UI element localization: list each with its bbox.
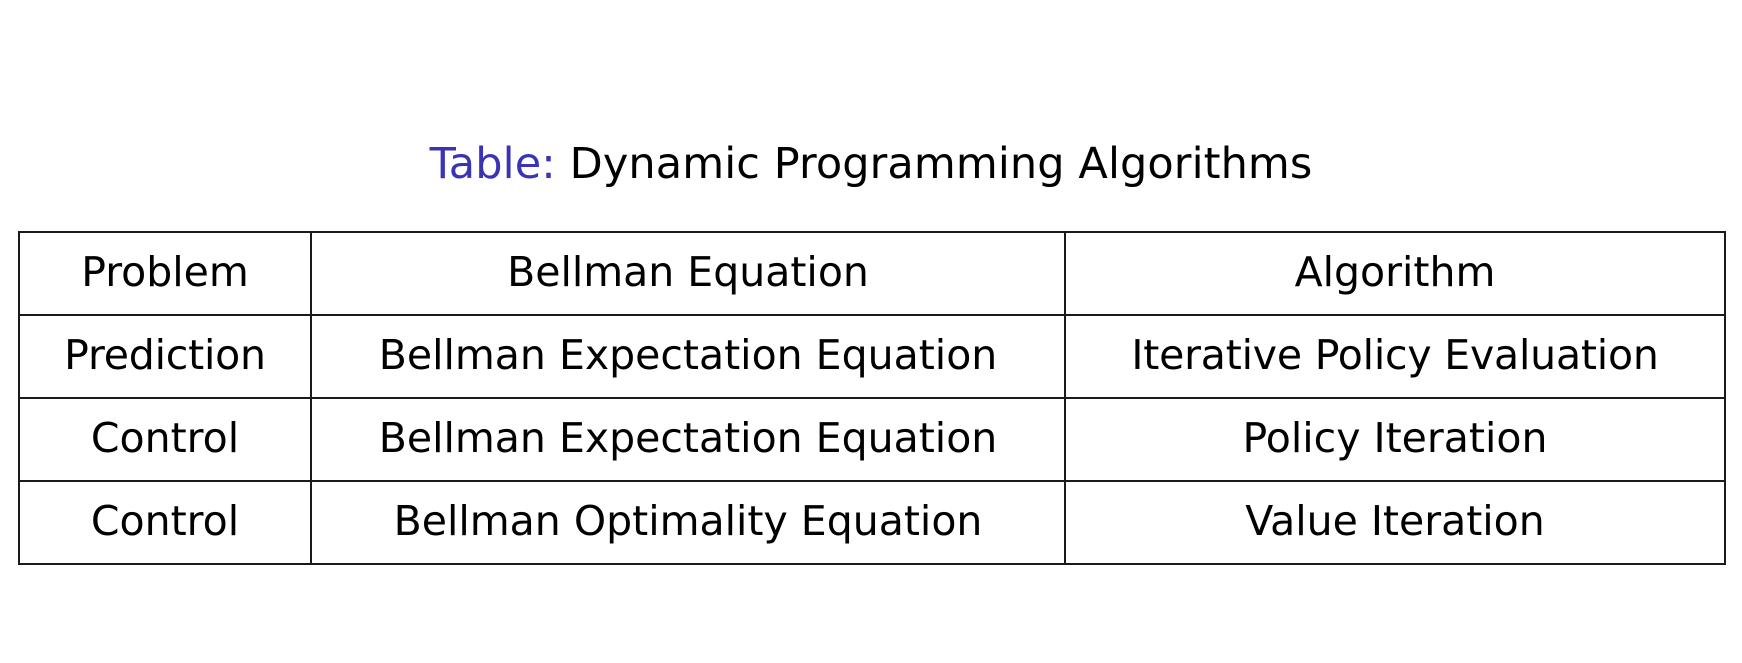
cell-bellman-equation: Bellman Optimality Equation [311,481,1065,564]
table-header-row: Problem Bellman Equation Algorithm [19,232,1725,315]
caption-title-text: Dynamic Programming Algorithms [570,139,1313,189]
cell-problem: Control [19,398,311,481]
caption-label: Table: [430,139,556,189]
table-body: Prediction Bellman Expectation Equation … [19,315,1725,564]
table-container: Problem Bellman Equation Algorithm Predi… [18,231,1724,565]
column-header-bellman-equation: Bellman Equation [311,232,1065,315]
cell-algorithm: Iterative Policy Evaluation [1065,315,1725,398]
table-row: Control Bellman Expectation Equation Pol… [19,398,1725,481]
column-header-problem: Problem [19,232,311,315]
cell-problem: Prediction [19,315,311,398]
table-caption: Table: Dynamic Programming Algorithms [0,143,1742,186]
dynamic-programming-table: Problem Bellman Equation Algorithm Predi… [18,231,1726,565]
cell-algorithm: Policy Iteration [1065,398,1725,481]
column-header-algorithm: Algorithm [1065,232,1725,315]
table-row: Prediction Bellman Expectation Equation … [19,315,1725,398]
cell-bellman-equation: Bellman Expectation Equation [311,398,1065,481]
table-row: Control Bellman Optimality Equation Valu… [19,481,1725,564]
cell-algorithm: Value Iteration [1065,481,1725,564]
table-header: Problem Bellman Equation Algorithm [19,232,1725,315]
cell-problem: Control [19,481,311,564]
slide-canvas: Table: Dynamic Programming Algorithms Pr… [0,0,1742,663]
cell-bellman-equation: Bellman Expectation Equation [311,315,1065,398]
